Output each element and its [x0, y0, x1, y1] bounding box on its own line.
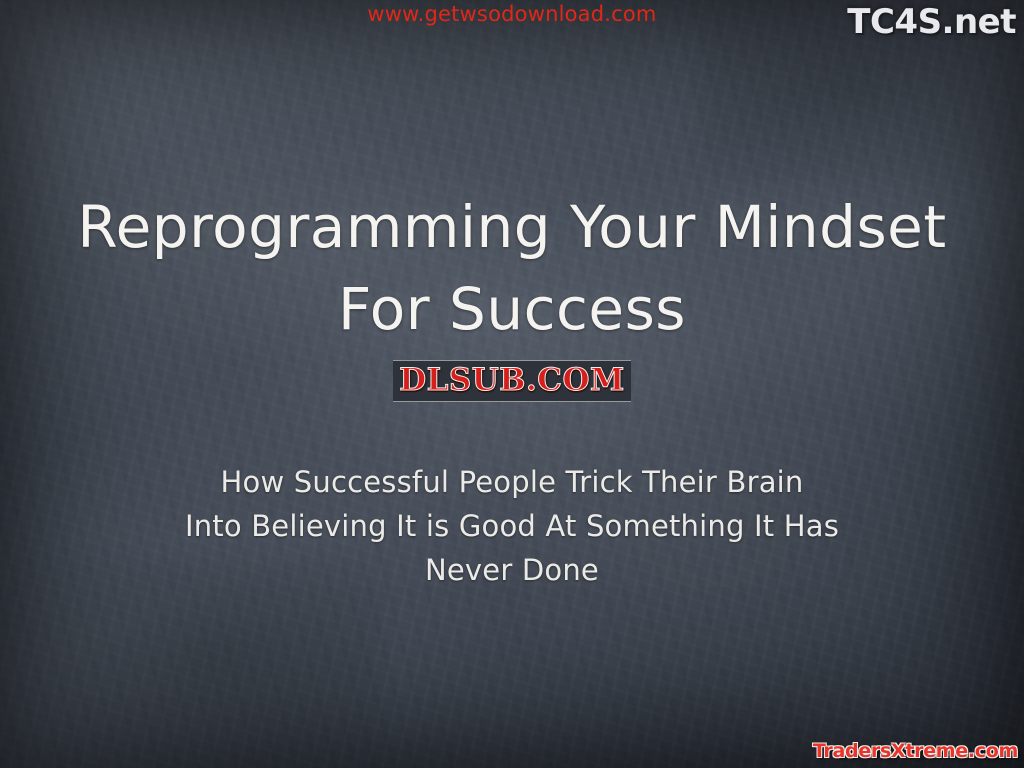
- slide-title-line-1: Reprogramming Your Mindset: [77, 193, 946, 261]
- slide-title-line-2: For Success: [0, 268, 1024, 350]
- slide-subtitle: How Successful People Trick Their Brain …: [0, 460, 1024, 592]
- watermark-tradersxtreme-logo: TradersXtreme.com: [813, 740, 1018, 762]
- slide-subtitle-line-1: How Successful People Trick Their Brain: [0, 460, 1024, 504]
- slide-subtitle-line-2: Into Believing It is Good At Something I…: [0, 504, 1024, 548]
- watermark-dlsub-text: DLSUB.COM: [393, 360, 631, 402]
- slide-title: Reprogramming Your Mindset For Success: [0, 186, 1024, 351]
- watermark-tc4s-logo: TC4S.net: [847, 2, 1016, 42]
- slide-subtitle-line-3: Never Done: [0, 548, 1024, 592]
- presentation-slide: www.getwsodownload.com TC4S.net Reprogra…: [0, 0, 1024, 768]
- watermark-dlsub-stamp: DLSUB.COM: [0, 360, 1024, 402]
